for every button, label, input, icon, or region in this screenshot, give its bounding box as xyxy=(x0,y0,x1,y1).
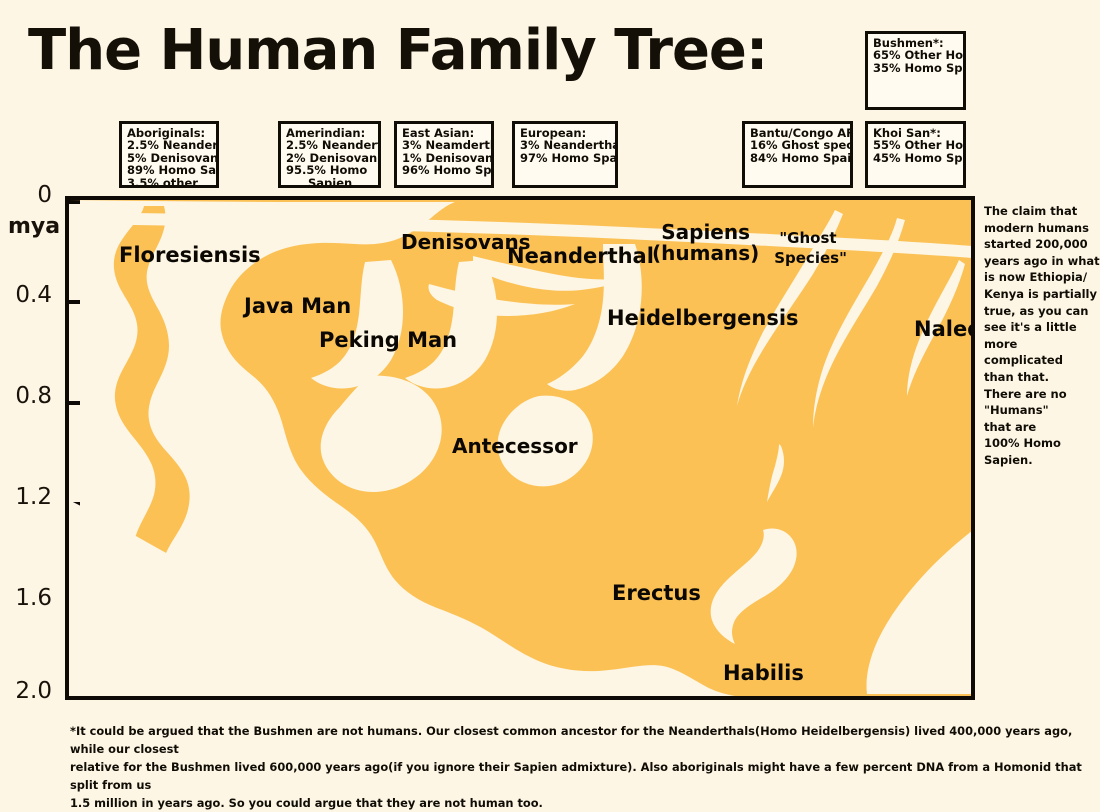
admixture-box-line: 65% Other Homo xyxy=(873,49,959,61)
admixture-box-bushmen: Bushmen*: 65% Other Homo 35% Homo Spaien xyxy=(865,31,966,110)
family-tree-plot: Floresiensis Java Man Peking Man Denisov… xyxy=(65,196,975,700)
y-axis: 0 0.4 0.8 1.2 1.6 2.0 xyxy=(0,196,52,700)
species-label-ghost-species: "Ghost Species" xyxy=(769,228,847,269)
admixture-box-line: 45% Homo Spaien xyxy=(873,152,959,164)
species-label-naledi: Naledi xyxy=(914,318,975,340)
admixture-box-khoi-san: Khoi San*: 55% Other Homo 45% Homo Spaie… xyxy=(865,121,966,188)
y-tick-label-1.6: 1.6 xyxy=(0,585,52,611)
species-label-erectus: Erectus xyxy=(612,582,701,604)
admixture-box-aboriginals: Aboriginals: 2.5% Neanderthal 5% Denisov… xyxy=(119,121,219,188)
species-label-java-man: Java Man xyxy=(244,295,351,317)
admixture-box-line: 55% Other Homo xyxy=(873,139,959,151)
admixture-box-line: 97% Homo Spaien xyxy=(520,152,611,164)
admixture-box-bantu-congo-af: Bantu/Congo AF: 16% Ghost species 84% Ho… xyxy=(742,121,853,188)
species-label-heidelbergensis: Heidelbergensis xyxy=(607,307,799,329)
gap-bottom-left xyxy=(69,500,331,694)
y-tick-label-1.2: 1.2 xyxy=(0,484,52,510)
species-label-floresiensis: Floresiensis xyxy=(119,244,261,266)
page-title: The Human Family Tree: xyxy=(28,18,767,83)
admixture-box-line: 95.5% Homo xyxy=(286,164,374,176)
admixture-box-line: 35% Homo Spaien xyxy=(873,62,959,74)
species-label-antecessor: Antecessor xyxy=(452,436,578,457)
poster-canvas: The Human Family Tree: Bushmen*: 65% Oth… xyxy=(0,0,1100,800)
admixture-box-line: 3% Neanderthal xyxy=(520,139,611,151)
species-label-sapiens: Sapiens (humans) xyxy=(652,222,759,264)
admixture-box-line: Sapien xyxy=(286,177,374,188)
footnote-text: *It could be argued that the Bushmen are… xyxy=(70,722,1090,812)
species-label-neanderthal: Neanderthal xyxy=(507,245,654,267)
admixture-box-line: 2.5% Neanderthal xyxy=(127,139,212,151)
y-tick-label-0.8: 0.8 xyxy=(0,383,52,409)
y-tick-label-2.0: 2.0 xyxy=(0,678,52,704)
admixture-box-amerindian: Amerindian: 2.5% Neanderthal 2% Denisova… xyxy=(278,121,381,188)
admixture-box-european: European: 3% Neanderthal 97% Homo Spaien xyxy=(512,121,618,188)
y-tick-label-0: 0 xyxy=(0,182,52,208)
y-tick-label-0.4: 0.4 xyxy=(0,282,52,308)
admixture-box-line: 16% Ghost species xyxy=(750,139,846,151)
admixture-box-east-asian: East Asian: 3% Neamderthal 1% Denisovan … xyxy=(394,121,494,188)
species-label-peking-man: Peking Man xyxy=(319,329,457,351)
species-label-habilis: Habilis xyxy=(723,662,804,684)
admixture-box-line: 84% Homo Spaien xyxy=(750,152,846,164)
admixture-box-line: 2.5% Neanderthal xyxy=(286,139,374,151)
admixture-box-line: 89% Homo Sapien xyxy=(127,164,212,176)
admixture-box-line: 3% Neamderthal xyxy=(402,139,487,151)
admixture-box-line: 96% Homo Spaien xyxy=(402,164,487,176)
y-axis-unit-label: mya xyxy=(8,214,60,239)
commentary-note: The claim that modern humans started 200… xyxy=(984,203,1100,469)
admixture-box-line: 3.5% other xyxy=(127,177,212,188)
